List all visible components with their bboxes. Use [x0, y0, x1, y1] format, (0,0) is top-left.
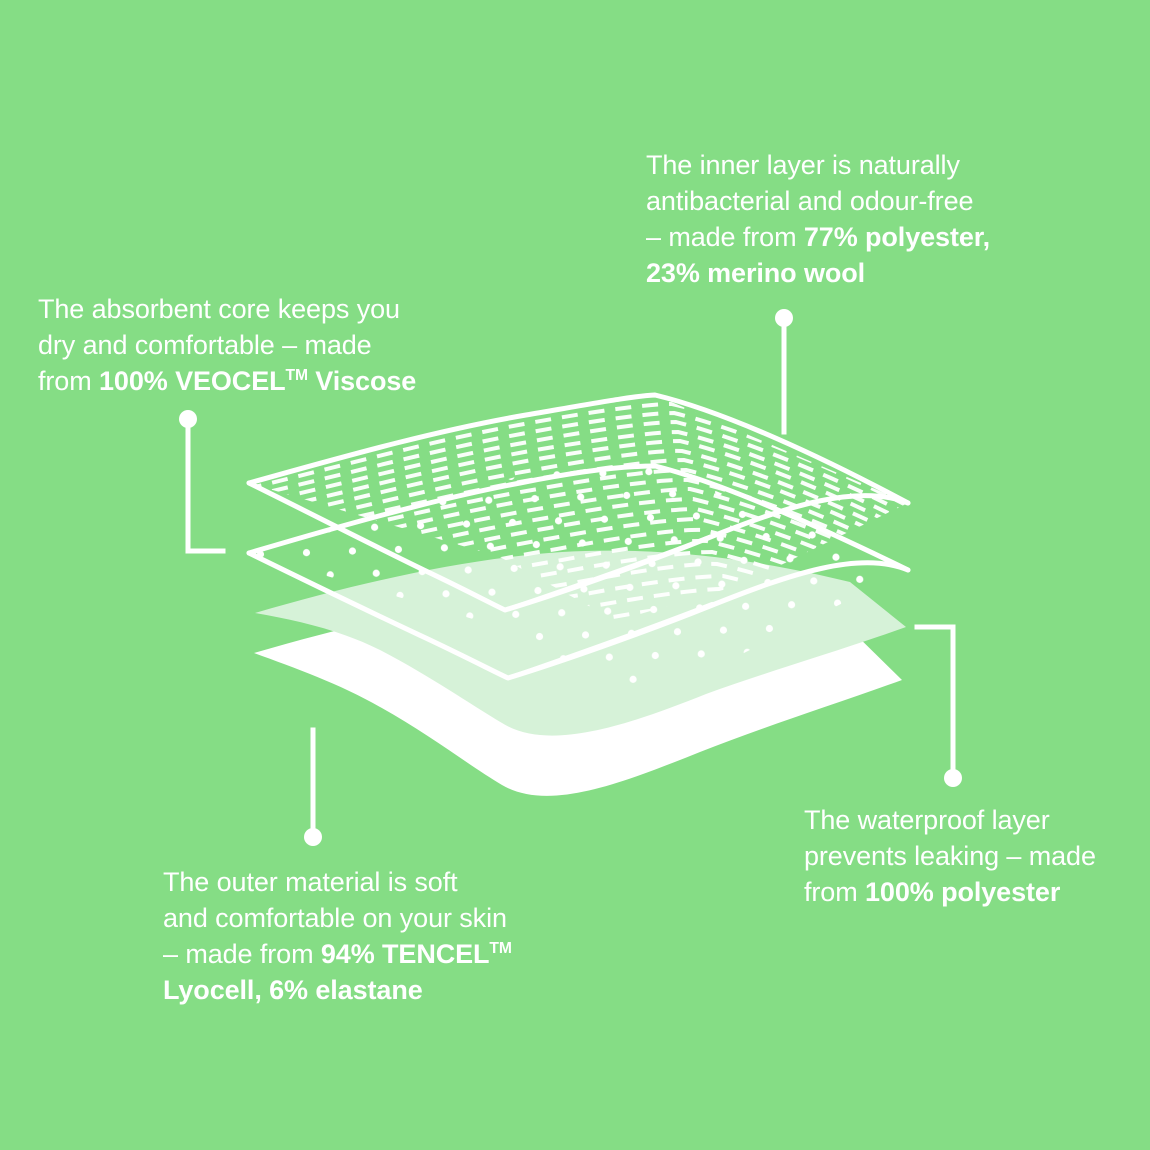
callout-text: and comfortable on your skin — [163, 903, 507, 933]
leader-outer-material — [304, 730, 322, 846]
callout-text: from — [38, 366, 99, 396]
callout-waterproof-layer: The waterproof layerprevents leaking – m… — [804, 802, 1134, 910]
callout-absorbent-core: The absorbent core keeps youdry and comf… — [38, 291, 458, 399]
callout-text: The waterproof layer — [804, 805, 1050, 835]
callout-text: – made from — [646, 222, 804, 252]
callout-line: dry and comfortable – made — [38, 327, 458, 363]
callout-emphasis: 100% VEOCEL — [99, 366, 285, 396]
callout-outer-material: The outer material is softand comfortabl… — [163, 864, 563, 1008]
leader-absorbent-core — [179, 410, 223, 551]
callout-line: – made from 94% TENCELTM — [163, 936, 563, 972]
callout-line: and comfortable on your skin — [163, 900, 563, 936]
callout-text: The absorbent core keeps you — [38, 294, 400, 324]
callout-line: The outer material is soft — [163, 864, 563, 900]
callout-line: The waterproof layer — [804, 802, 1134, 838]
leader-waterproof-layer — [917, 627, 962, 787]
callout-emphasis: Lyocell, 6% elastane — [163, 975, 423, 1005]
callout-line: from 100% polyester — [804, 874, 1134, 910]
callout-inner-layer: The inner layer is naturallyantibacteria… — [646, 147, 1046, 291]
infographic-canvas: The inner layer is naturallyantibacteria… — [0, 0, 1150, 1150]
callout-line: – made from 77% polyester, — [646, 219, 1046, 255]
callout-emphasis: 23% merino wool — [646, 258, 865, 288]
trademark-mark: TM — [286, 367, 308, 384]
callout-text: dry and comfortable – made — [38, 330, 372, 360]
callout-text: – made from — [163, 939, 321, 969]
callout-line: from 100% VEOCELTM Viscose — [38, 363, 458, 399]
callout-emphasis: Viscose — [308, 366, 416, 396]
leader-inner-layer — [775, 309, 793, 432]
callout-text: antibacterial and odour-free — [646, 186, 973, 216]
callout-text: prevents leaking – made — [804, 841, 1096, 871]
callout-line: prevents leaking – made — [804, 838, 1134, 874]
callout-emphasis: 77% polyester, — [804, 222, 990, 252]
callout-line: The inner layer is naturally — [646, 147, 1046, 183]
callout-emphasis: 100% polyester — [865, 877, 1060, 907]
callout-emphasis: 94% TENCEL — [321, 939, 490, 969]
callout-line: Lyocell, 6% elastane — [163, 972, 563, 1008]
callout-line: The absorbent core keeps you — [38, 291, 458, 327]
trademark-mark: TM — [489, 940, 511, 957]
callout-text: The inner layer is naturally — [646, 150, 960, 180]
callout-line: antibacterial and odour-free — [646, 183, 1046, 219]
callout-line: 23% merino wool — [646, 255, 1046, 291]
callout-text: The outer material is soft — [163, 867, 458, 897]
callout-text: from — [804, 877, 865, 907]
